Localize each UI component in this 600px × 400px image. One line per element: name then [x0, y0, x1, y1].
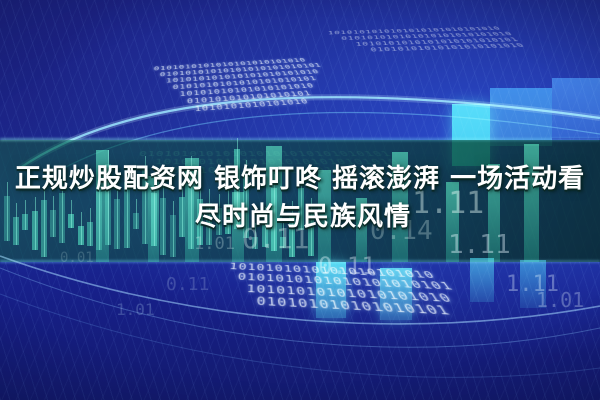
candle-body [13, 217, 19, 245]
candle-body [59, 193, 65, 243]
candle-body [87, 222, 93, 246]
candle-body [298, 188, 304, 231]
candle-body [308, 212, 314, 256]
candle-body [68, 214, 74, 228]
candle-body [124, 182, 130, 248]
candle-body [262, 221, 268, 246]
candle-body [271, 188, 277, 251]
candle-body [234, 149, 240, 229]
cyan-bar-lower-2 [380, 268, 412, 320]
candle-body [105, 164, 111, 245]
candle-body [114, 199, 120, 248]
candle-body [206, 203, 212, 245]
candle-body [252, 237, 258, 249]
candle-body [179, 197, 185, 237]
green-bar-10 [488, 164, 500, 262]
candle-body [78, 226, 84, 245]
green-bar-11 [524, 144, 539, 262]
banner-image: 1010101010101010101010101010 01010101010… [0, 0, 600, 400]
candle-body [50, 210, 56, 237]
candle-body [243, 174, 249, 238]
candle-body [4, 196, 10, 241]
cyan-bar-lower-3 [470, 258, 494, 302]
candlestick-chart [0, 138, 330, 264]
candle-body [96, 192, 102, 250]
candle-body [170, 215, 176, 257]
candle-body [32, 211, 38, 251]
candle-body [289, 215, 295, 257]
green-band-bottom-edge [0, 260, 600, 263]
cyan-bar-lower-4 [520, 260, 546, 308]
green-bar-7 [356, 198, 367, 262]
candle-body [142, 170, 148, 244]
candle-body [280, 237, 286, 248]
green-bar-9 [446, 182, 459, 262]
candle-body [133, 213, 139, 229]
cyan-bar-3 [552, 78, 600, 138]
candle-body [22, 214, 28, 230]
candle-body [160, 198, 166, 255]
candle-body [151, 193, 157, 246]
candle-body [188, 170, 194, 249]
candle-body [41, 200, 47, 257]
cyan-bar-lower-1 [316, 262, 346, 318]
candle-body [197, 199, 203, 245]
green-bar-8 [392, 152, 408, 262]
candle-body [216, 208, 222, 235]
candle-body [225, 204, 231, 233]
